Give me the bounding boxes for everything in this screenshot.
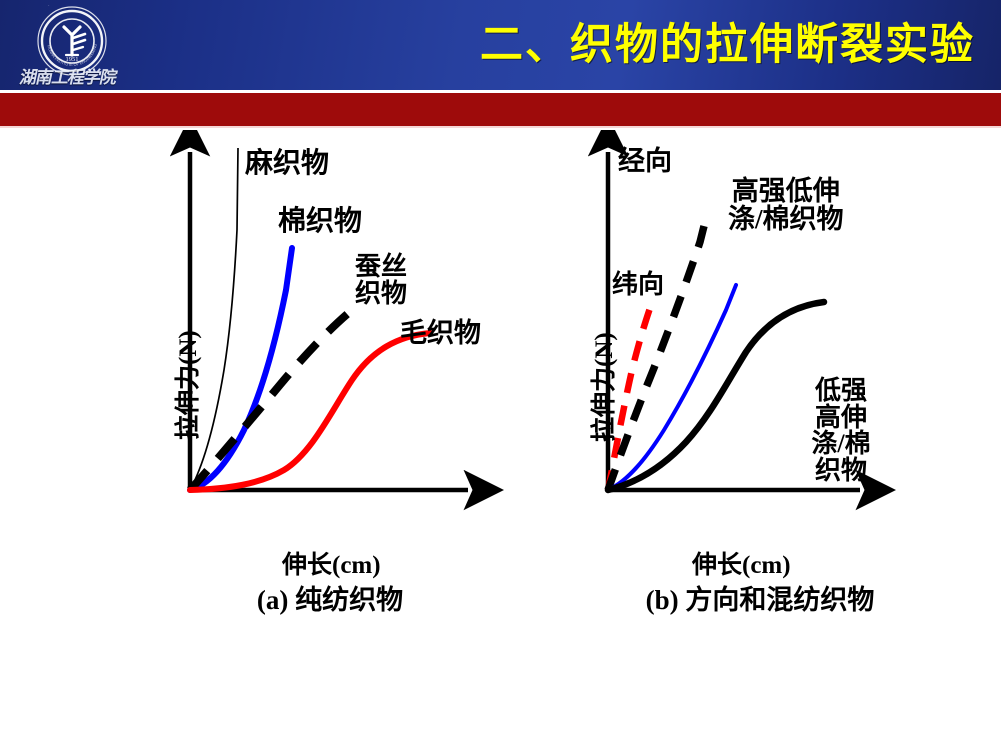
curve-label-cotton: 棉织物 — [278, 208, 362, 237]
curve-label-wool: 毛织物 — [400, 320, 481, 348]
figure-area: 麻织物 棉织物 蚕丝 织物 毛织物 拉伸力(N) 伸长(cm) (a) 纯纺织物 — [0, 130, 1001, 650]
chart-a-caption: (a) 纯纺织物 — [150, 578, 510, 617]
curve-label-high-tenacity: 高强低伸 涤/棉织物 — [728, 178, 844, 233]
curve-label-low-tenacity-line1: 低强 — [798, 378, 884, 405]
curve-label-low-tenacity-line4: 织物 — [798, 458, 884, 485]
curve-warp-jingxiang — [608, 218, 706, 490]
curve-label-weft: 纬向 — [612, 272, 664, 299]
curve-label-hemp: 麻织物 — [245, 150, 329, 179]
page-title: 二、织物的拉伸断裂实验 — [430, 16, 975, 78]
chart-panel-b-direction-blends: 经向 纬向 高强低伸 涤/棉织物 低强 高伸 涤/棉 织物 拉伸力(N) 伸长(… — [560, 130, 960, 650]
svg-text:湖南工程学院: 湖南工程学院 — [44, 5, 71, 7]
curve-label-high-tenacity-line2: 涤/棉织物 — [728, 206, 844, 234]
curve-label-warp: 经向 — [618, 148, 672, 176]
curve-label-high-tenacity-line1: 高强低伸 — [728, 178, 844, 206]
chart-a-x-axis-label: 伸长(cm) — [282, 545, 381, 581]
institution-logo: 1951 湖南工程学院 HUNAN INSTITUTE OF ENGINEERI… — [18, 4, 128, 90]
chart-b-y-axis-label: 拉伸力(N) — [584, 332, 620, 442]
slide-canvas: 二、织物的拉伸断裂实验 1951 湖南工程学院 HUNAN INSTITUTE … — [0, 0, 1001, 752]
chart-b-caption: (b) 方向和混纺织物 — [560, 578, 960, 617]
curve-label-silk-line1: 蚕丝 — [355, 254, 407, 281]
curve-silk-cansi — [190, 310, 352, 490]
curve-label-silk-line2: 织物 — [355, 281, 407, 308]
curve-label-low-tenacity: 低强 高伸 涤/棉 织物 — [798, 378, 884, 484]
institution-name-text: 湖南工程学院 — [17, 66, 130, 90]
header-accent-bar-red — [0, 93, 1001, 128]
curve-label-silk: 蚕丝 织物 — [355, 254, 407, 307]
chart-a-y-axis-label: 拉伸力(N) — [168, 330, 204, 440]
chart-panel-a-pure-fabrics: 麻织物 棉织物 蚕丝 织物 毛织物 拉伸力(N) 伸长(cm) (a) 纯纺织物 — [150, 130, 510, 650]
curve-label-low-tenacity-line3: 涤/棉 — [798, 431, 884, 458]
curve-label-low-tenacity-line2: 高伸 — [798, 405, 884, 432]
chart-a-svg — [150, 130, 510, 570]
chart-b-x-axis-label: 伸长(cm) — [692, 545, 791, 581]
